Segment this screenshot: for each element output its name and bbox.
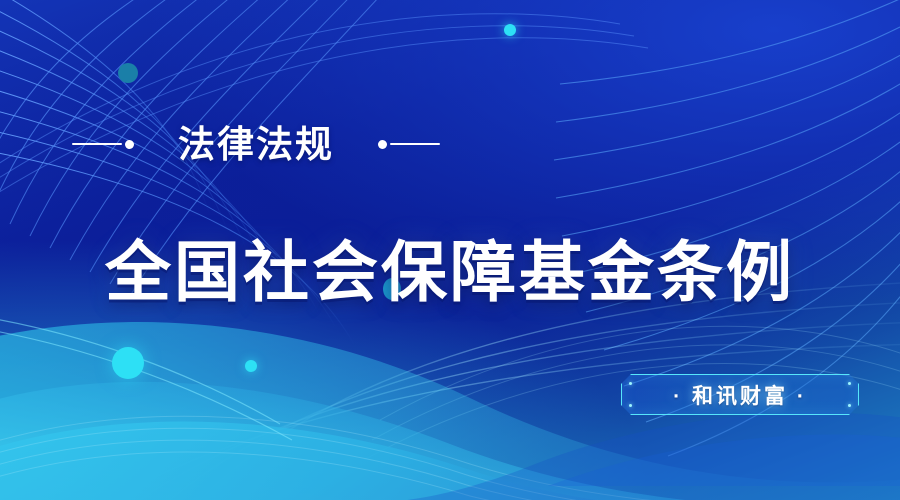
line-dot-ornament-icon <box>72 118 134 170</box>
page-title: 全国社会保障基金条例 <box>0 236 900 308</box>
badge-label: · 和讯财富 · <box>621 374 859 415</box>
subtitle-text: 法律法规 <box>178 126 334 163</box>
banner-content: 法律法规 全国社会保障基金条例 · 和讯财富 · <box>0 0 900 500</box>
ornament-line <box>390 143 440 145</box>
ornament-line <box>72 143 122 145</box>
dot-line-ornament-icon <box>378 118 440 170</box>
ornament-dot <box>378 140 387 149</box>
ornament-dot <box>125 140 134 149</box>
subtitle-row: 法律法规 <box>72 118 440 170</box>
brand-badge: · 和讯财富 · <box>621 374 859 415</box>
banner-image: 法律法规 全国社会保障基金条例 · 和讯财富 · <box>0 0 900 500</box>
